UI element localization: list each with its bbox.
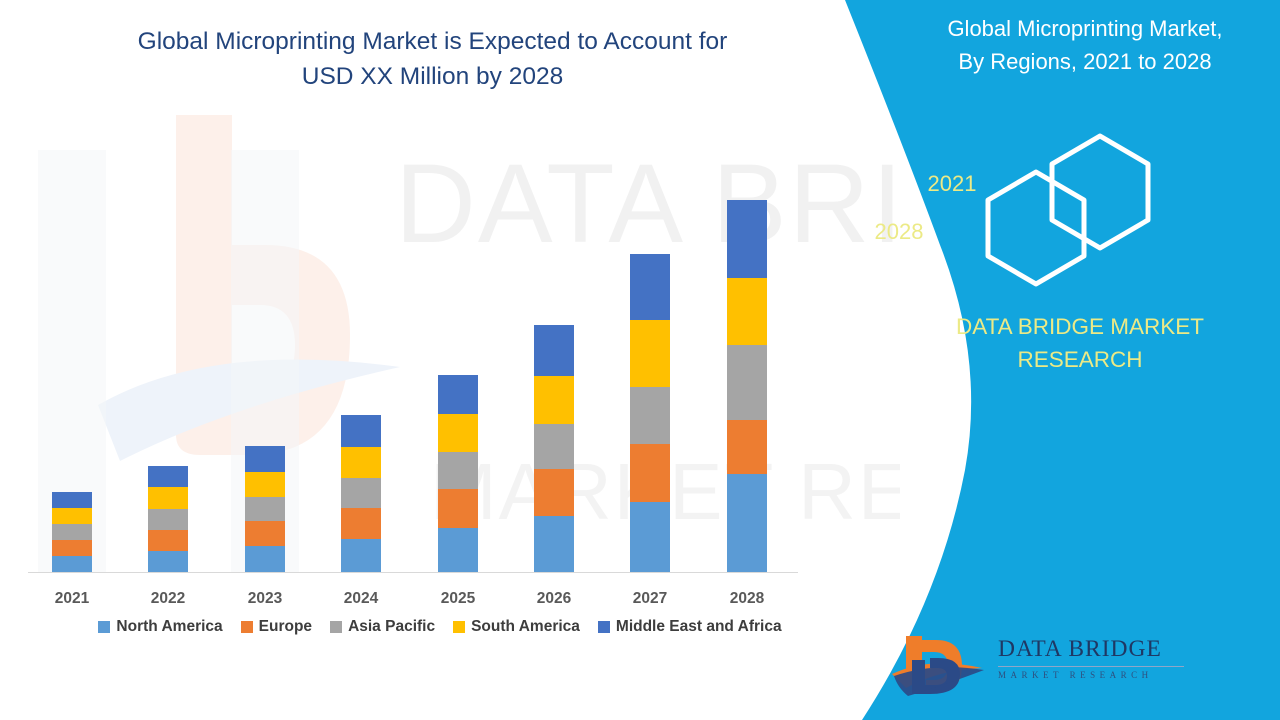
bar-segment (148, 509, 188, 530)
logo-wordmark: DATA BRIDGE MARKET RESEARCH (998, 636, 1188, 680)
legend-item[interactable]: Asia Pacific (330, 618, 435, 636)
legend-label: Middle East and Africa (616, 618, 782, 636)
bar-segment (148, 551, 188, 572)
bar-segment (630, 254, 670, 320)
bar-segment (438, 452, 478, 489)
bar-segment (438, 489, 478, 528)
bar-segment (245, 446, 285, 472)
brand-line-2: RESEARCH (900, 343, 1260, 376)
bar-segment (245, 472, 285, 497)
panel-title-line-1: Global Microprinting Market, (910, 12, 1260, 45)
x-axis-label-2026: 2026 (506, 590, 602, 608)
x-axis-line (28, 572, 798, 573)
legend-item[interactable]: North America (98, 618, 222, 636)
bar-segment (630, 444, 670, 502)
bar-2025[interactable] (438, 375, 478, 572)
bar-2022[interactable] (148, 466, 188, 572)
bar-segment (630, 320, 670, 387)
logo-mark (890, 630, 990, 700)
legend-swatch-icon (98, 621, 110, 633)
legend-swatch-icon (453, 621, 465, 633)
bar-segment (727, 474, 767, 572)
legend-swatch-icon (330, 621, 342, 633)
bar-segment (727, 420, 767, 474)
logo-divider (998, 666, 1184, 667)
hexagon-label-2028: 2028 (859, 219, 939, 245)
bar-segment (52, 508, 92, 524)
bar-segment (534, 469, 574, 516)
x-axis-label-2025: 2025 (410, 590, 506, 608)
bar-segment (727, 278, 767, 345)
bar-segment (148, 487, 188, 509)
bar-segment (534, 516, 574, 572)
bar-segment (438, 375, 478, 414)
bar-segment (341, 539, 381, 572)
bar-segment (245, 497, 285, 521)
chart-legend: North AmericaEuropeAsia PacificSouth Ame… (50, 618, 830, 636)
bar-segment (630, 502, 670, 572)
bar-segment (630, 387, 670, 444)
panel-title: Global Microprinting Market, By Regions,… (910, 12, 1260, 78)
x-axis-label-2028: 2028 (699, 590, 795, 608)
bar-segment (727, 200, 767, 278)
bar-segment (148, 466, 188, 487)
bar-segment (341, 508, 381, 539)
bar-segment (52, 556, 92, 572)
bar-segment (341, 478, 381, 508)
legend-item[interactable]: Europe (241, 618, 312, 636)
bar-2021[interactable] (52, 492, 92, 572)
bar-segment (245, 546, 285, 572)
x-axis-label-2021: 2021 (24, 590, 120, 608)
bar-segment (534, 376, 574, 424)
bar-segment (148, 530, 188, 551)
bar-2024[interactable] (341, 415, 381, 572)
bar-segment (534, 424, 574, 469)
panel-title-line-2: By Regions, 2021 to 2028 (910, 45, 1260, 78)
bar-segment (52, 540, 92, 556)
x-axis-label-2027: 2027 (602, 590, 698, 608)
plot-area: 20212022202320242025202620272028 (0, 0, 900, 720)
bar-segment (438, 528, 478, 572)
legend-label: South America (471, 618, 580, 636)
bar-segment (52, 524, 92, 540)
legend-label: Asia Pacific (348, 618, 435, 636)
bar-segment (341, 415, 381, 447)
legend-item[interactable]: South America (453, 618, 580, 636)
logo-name: DATA BRIDGE (998, 636, 1188, 663)
bar-2026[interactable] (534, 325, 574, 572)
hexagon-badges (970, 128, 1190, 288)
x-axis-label-2023: 2023 (217, 590, 313, 608)
legend-swatch-icon (241, 621, 253, 633)
bar-segment (534, 325, 574, 376)
hexagon-label-2021: 2021 (912, 171, 992, 197)
bar-2028[interactable] (727, 200, 767, 572)
legend-item[interactable]: Middle East and Africa (598, 618, 782, 636)
brand-panel: Global Microprinting Market, By Regions,… (820, 0, 1280, 720)
bar-segment (727, 345, 767, 420)
bar-2027[interactable] (630, 254, 670, 572)
logo-tagline: MARKET RESEARCH (998, 670, 1188, 680)
bar-segment (438, 414, 478, 452)
bar-segment (52, 492, 92, 508)
bar-segment (341, 447, 381, 478)
x-axis-label-2024: 2024 (313, 590, 409, 608)
legend-swatch-icon (598, 621, 610, 633)
brand-line-1: DATA BRIDGE MARKET (900, 310, 1260, 343)
chart-pane: DATA BRIDGE MARKET RESEARCH Global Micro… (0, 0, 900, 720)
legend-label: North America (116, 618, 222, 636)
brand-name: DATA BRIDGE MARKET RESEARCH (900, 310, 1260, 376)
bar-segment (245, 521, 285, 546)
legend-label: Europe (259, 618, 312, 636)
company-logo: DATA BRIDGE MARKET RESEARCH (890, 630, 1180, 700)
infographic-canvas: DATA BRIDGE MARKET RESEARCH Global Micro… (0, 0, 1280, 720)
x-axis-label-2022: 2022 (120, 590, 216, 608)
bar-2023[interactable] (245, 446, 285, 572)
